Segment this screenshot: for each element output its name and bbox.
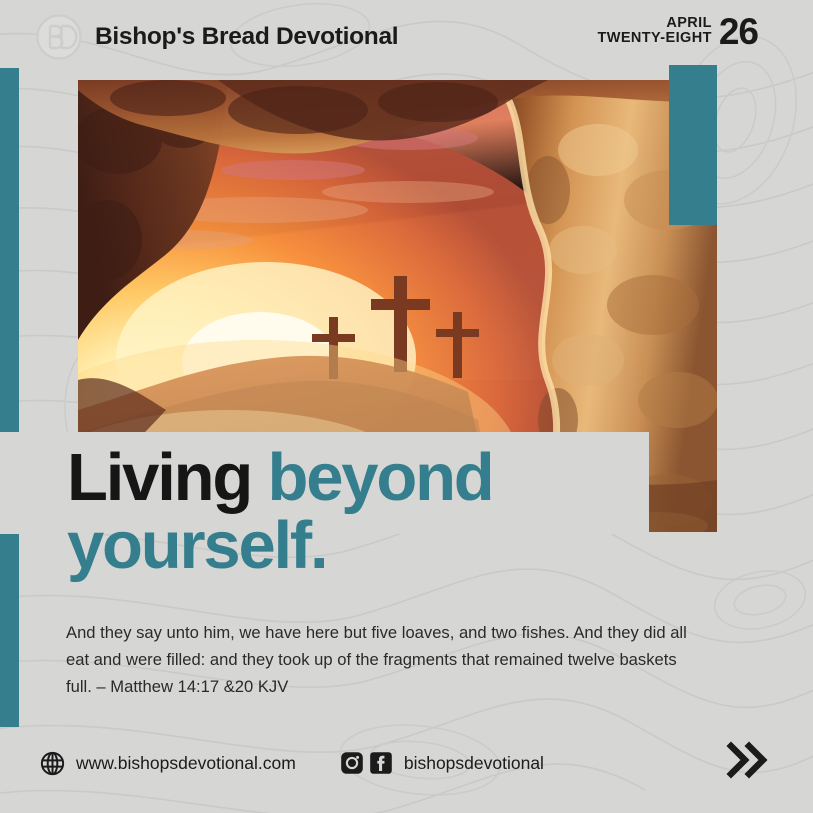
header: Bishop's Bread Devotional APRIL TWENTY-E… [0, 0, 813, 68]
facebook-icon[interactable] [369, 751, 393, 775]
date-block: APRIL TWENTY-EIGHT 26 [597, 13, 758, 49]
scripture-text: And they say unto him, we have here but … [66, 620, 706, 701]
website-text: www.bishopsdevotional.com [76, 753, 296, 774]
website-link[interactable]: www.bishopsdevotional.com [40, 751, 296, 776]
social-icons [340, 751, 393, 775]
photo-accent-bar [669, 65, 717, 225]
page-title: Bishop's Bread Devotional [95, 23, 398, 51]
date-day-number: 26 [719, 15, 758, 49]
double-chevron-right-icon[interactable] [725, 740, 771, 780]
date-words: APRIL TWENTY-EIGHT [597, 16, 711, 47]
devotional-card: Bishop's Bread Devotional APRIL TWENTY-E… [0, 0, 813, 813]
bbd-monogram-icon [36, 14, 82, 60]
social-handle-group[interactable]: bishopsdevotional [340, 751, 544, 775]
headline-word-beyond: beyond [268, 440, 493, 515]
instagram-icon[interactable] [340, 751, 364, 775]
footer: www.bishopsdevotional.com [40, 743, 773, 783]
date-day-words: TWENTY-EIGHT [597, 31, 711, 46]
globe-icon [40, 751, 65, 776]
headline: Living beyond yourself. [67, 444, 707, 581]
social-handle-text: bishopsdevotional [404, 753, 544, 774]
date-month: APRIL [666, 16, 712, 31]
headline-word-yourself: yourself. [67, 508, 326, 583]
left-accent-bar [0, 68, 19, 727]
headline-word-living: Living [67, 440, 251, 515]
